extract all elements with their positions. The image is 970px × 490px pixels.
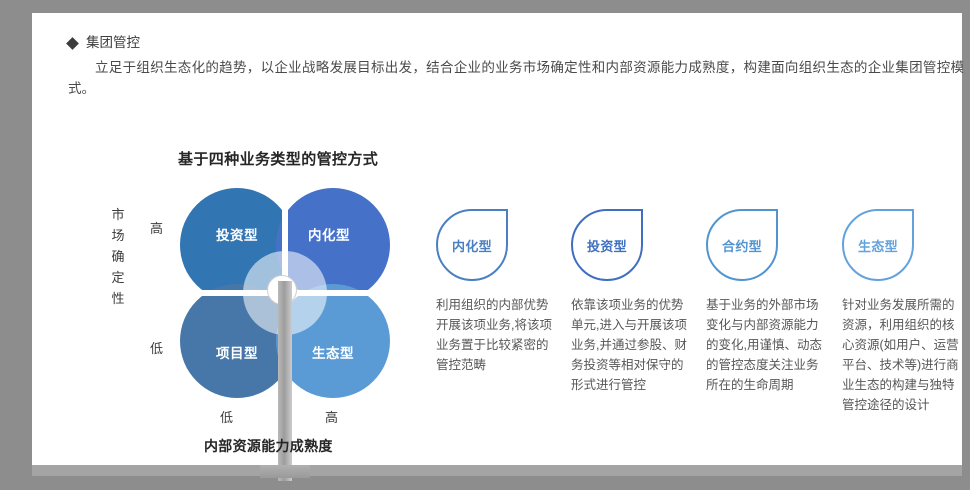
x-tick-low: 低 bbox=[220, 407, 233, 426]
droplet-icon: 内化型 bbox=[436, 209, 508, 281]
card-neihua[interactable]: 内化型 利用组织的内部优势开展该项业务,将该项业务置于比较紧密的管控范畴 bbox=[436, 209, 562, 375]
x-tick-high: 高 bbox=[325, 407, 338, 426]
card-shengtai[interactable]: 生态型 针对业务发展所需的资源，利用组织的核心资源(如用户、运营平台、技术等)进… bbox=[842, 209, 968, 415]
droplet-icon: 生态型 bbox=[842, 209, 914, 281]
flower-stem-base bbox=[260, 465, 310, 478]
slide-frame: 集团管控 立足于组织生态化的趋势，以企业战略发展目标出发，结合企业的业务市场确定… bbox=[0, 0, 970, 490]
x-axis-title: 内部资源能力成熟度 bbox=[204, 436, 333, 456]
diamond-icon bbox=[66, 37, 79, 50]
card-description: 利用组织的内部优势开展该项业务,将该项业务置于比较紧密的管控范畴 bbox=[436, 295, 554, 375]
card-heyue[interactable]: 合约型 基于业务的外部市场变化与内部资源能力的变化,用谨慎、动态的管控态度关注业… bbox=[706, 209, 832, 395]
card-description: 针对业务发展所需的资源，利用组织的核心资源(如用户、运营平台、技术等)进行商业生… bbox=[842, 295, 960, 415]
card-description: 基于业务的外部市场变化与内部资源能力的变化,用谨慎、动态的管控态度关注业务所在的… bbox=[706, 295, 824, 395]
card-description: 依靠该项业务的优势单元,进入与开展该项业务,并通过参股、财务投资等相对保守的形式… bbox=[571, 295, 689, 395]
card-label: 内化型 bbox=[452, 236, 492, 255]
card-label: 生态型 bbox=[858, 236, 898, 255]
card-touzi[interactable]: 投资型 依靠该项业务的优势单元,进入与开展该项业务,并通过参股、财务投资等相对保… bbox=[571, 209, 697, 395]
quadrant-top-left-label: 投资型 bbox=[216, 224, 258, 244]
droplet-icon: 投资型 bbox=[571, 209, 643, 281]
header-block: 集团管控 立足于组织生态化的趋势，以企业战略发展目标出发，结合企业的业务市场确定… bbox=[68, 33, 968, 99]
chart-title: 基于四种业务类型的管控方式 bbox=[178, 148, 378, 169]
y-axis-title: 市 场 确 定 性 bbox=[110, 204, 126, 309]
page-shadow bbox=[32, 465, 962, 476]
page-title: 集团管控 bbox=[86, 33, 140, 53]
quadrant-bottom-right-label: 生态型 bbox=[312, 342, 354, 362]
y-tick-high: 高 bbox=[150, 218, 163, 237]
quadrant-bottom-left-label: 项目型 bbox=[216, 342, 258, 362]
header-title-row: 集团管控 bbox=[68, 33, 968, 53]
card-label: 合约型 bbox=[722, 236, 762, 255]
card-label: 投资型 bbox=[587, 236, 627, 255]
quadrant-top-right-label: 内化型 bbox=[308, 224, 358, 244]
droplet-icon: 合约型 bbox=[706, 209, 778, 281]
slide-page: 集团管控 立足于组织生态化的趋势，以企业战略发展目标出发，结合企业的业务市场确定… bbox=[32, 13, 962, 465]
header-paragraph: 立足于组织生态化的趋势，以企业战略发展目标出发，结合企业的业务市场确定性和内部资… bbox=[68, 57, 964, 99]
y-tick-low: 低 bbox=[150, 338, 163, 357]
